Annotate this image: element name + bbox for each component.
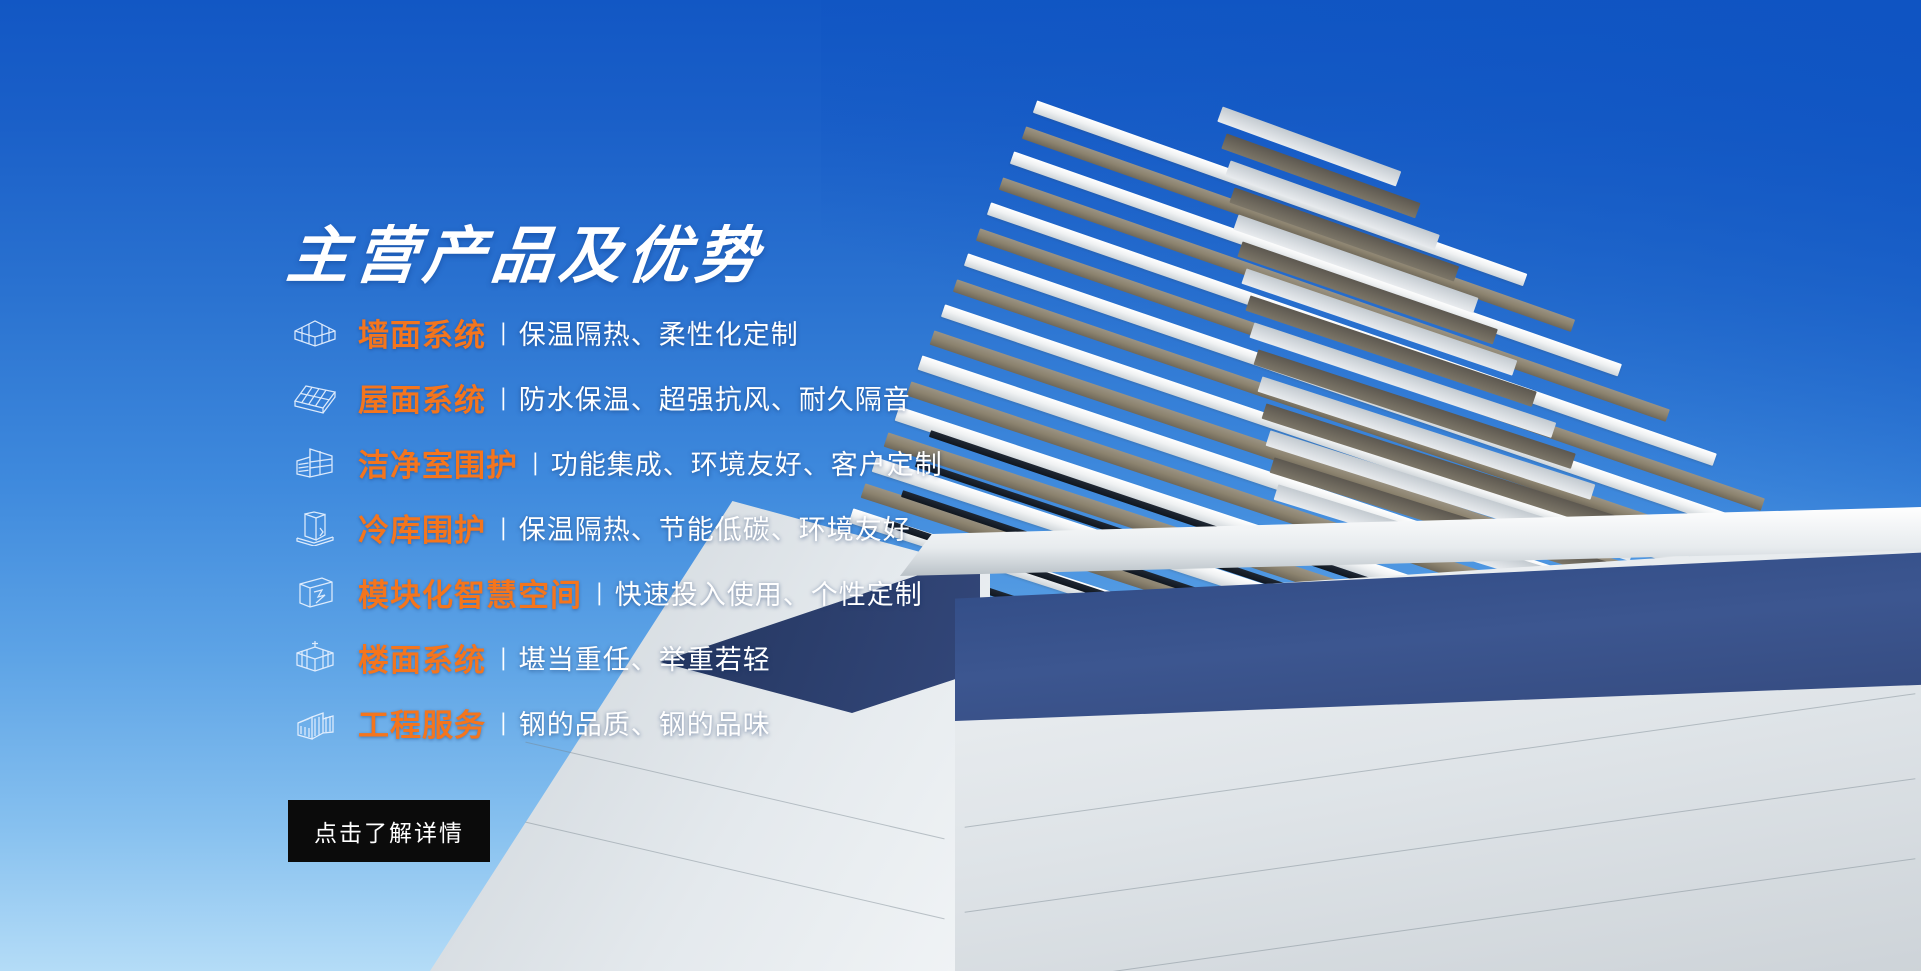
product-separator: | [502, 644, 506, 672]
product-list-item[interactable]: 模块化智慧空间|快速投入使用、个性定制 [288, 560, 1108, 625]
product-list-item[interactable]: 楼面系统|堪当重任、举重若轻 [288, 625, 1108, 690]
product-category-label: 模块化智慧空间 [358, 570, 582, 615]
product-list-item[interactable]: 洁净室围护|功能集成、环境友好、客户定制 [288, 430, 1108, 495]
product-description: 钢的品质、钢的品味 [519, 703, 771, 742]
product-description: 防水保温、超强抗风、耐久隔音 [519, 378, 911, 417]
product-category-label: 工程服务 [358, 700, 486, 745]
product-description: 功能集成、环境友好、客户定制 [551, 443, 943, 482]
roof-system-icon [288, 376, 342, 420]
product-description: 保温隔热、柔性化定制 [519, 313, 799, 352]
product-category-label: 屋面系统 [358, 375, 486, 420]
product-separator: | [534, 449, 538, 477]
product-separator: | [598, 579, 602, 607]
product-category-label: 洁净室围护 [358, 440, 518, 485]
hero-content: 主营产品及优势 墙面系统|保温隔热、柔性化定制屋面系统|防水保温、超强抗风、耐久… [0, 0, 1100, 971]
product-description: 保温隔热、节能低碳、环境友好 [519, 508, 911, 547]
modular-smart-space-icon [288, 571, 342, 615]
product-description: 快速投入使用、个性定制 [615, 573, 923, 612]
cold-storage-envelope-icon [288, 506, 342, 550]
learn-more-button[interactable]: 点击了解详情 [288, 800, 490, 862]
product-separator: | [502, 319, 506, 347]
product-description: 堪当重任、举重若轻 [519, 638, 771, 677]
product-separator: | [502, 384, 506, 412]
product-list-item[interactable]: 工程服务|钢的品质、钢的品味 [288, 690, 1108, 755]
product-list: 墙面系统|保温隔热、柔性化定制屋面系统|防水保温、超强抗风、耐久隔音洁净室围护|… [288, 300, 1108, 755]
product-separator: | [502, 514, 506, 542]
floor-system-icon [288, 636, 342, 680]
product-category-label: 冷库围护 [358, 505, 486, 550]
engineering-service-icon [288, 701, 342, 745]
page-title: 主营产品及优势 [283, 205, 768, 295]
product-list-item[interactable]: 墙面系统|保温隔热、柔性化定制 [288, 300, 1108, 365]
product-category-label: 墙面系统 [358, 310, 486, 355]
hero-banner: 主营产品及优势 墙面系统|保温隔热、柔性化定制屋面系统|防水保温、超强抗风、耐久… [0, 0, 1921, 971]
product-separator: | [502, 709, 506, 737]
cleanroom-envelope-icon [288, 441, 342, 485]
product-list-item[interactable]: 冷库围护|保温隔热、节能低碳、环境友好 [288, 495, 1108, 560]
product-list-item[interactable]: 屋面系统|防水保温、超强抗风、耐久隔音 [288, 365, 1108, 430]
product-category-label: 楼面系统 [358, 635, 486, 680]
wall-system-icon [288, 311, 342, 355]
